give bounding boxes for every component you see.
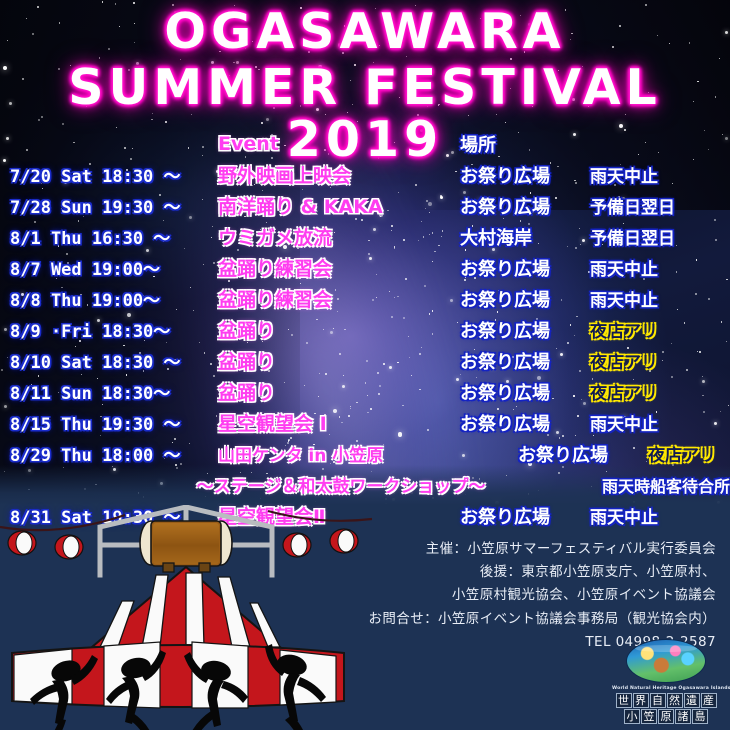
table-row: 8/7 Wed 19:00～盆踊り練習会お祭り広場雨天中止 (0, 252, 730, 283)
cell-venue: お祭り広場 (460, 162, 590, 188)
taiko-drum-icon (140, 521, 232, 572)
heritage-kanji-cell: 界 (633, 693, 649, 708)
cell-note: 夜店アリ (590, 317, 730, 342)
credit-organizer: 主催：小笠原サマーフェスティバル実行委員会 (369, 538, 717, 561)
heritage-logo-icon (626, 639, 706, 683)
yagura-illustration (0, 505, 372, 730)
cell-date: 7/28 Sun 19:30 ～ (0, 193, 218, 218)
cell-date: 8/11 Sun 18:30～ (0, 379, 218, 404)
cell-venue: お祭り広場 (460, 503, 590, 529)
heritage-kanji-cell: 産 (701, 693, 717, 708)
table-row: 8/11 Sun 18:30～盆踊りお祭り広場夜店アリ (0, 376, 730, 407)
header-event: Event (218, 133, 460, 155)
heritage-kanji-cell: 自 (650, 693, 666, 708)
cell-event: 盆踊り (218, 316, 460, 343)
credit-support-1: 後援：東京都小笠原支庁、小笠原村、 (369, 561, 717, 584)
schedule-table: Event 場所 7/20 Sat 18:30 ～野外映画上映会お祭り広場雨天中… (0, 128, 730, 531)
lantern-icon (283, 533, 311, 557)
cell-note: 雨天中止 (590, 286, 730, 311)
yagura-upper-curtain (92, 567, 280, 647)
lantern-icon (330, 529, 358, 553)
heritage-kanji-row: 小笠原諸島 (624, 709, 708, 724)
table-row: 8/10 Sat 18:30 ～盆踊りお祭り広場夜店アリ (0, 345, 730, 376)
cell-date: 8/8 Thu 19:00～ (0, 286, 218, 311)
cell-event: 山田ケンタ in 小笠原 (218, 441, 518, 466)
table-row: 8/9 ·Fri 18:30～盆踊りお祭り広場夜店アリ (0, 314, 730, 345)
cell-note: 雨天中止 (590, 255, 730, 280)
cell-date: 8/29 Thu 18:00 ～ (0, 441, 218, 466)
cell-event: 盆踊り練習会 (218, 285, 460, 312)
cell-date: 8/1 Thu 16:30 ～ (0, 224, 218, 249)
table-row: 8/1 Thu 16:30 ～ウミガメ放流大村海岸予備日翌日 (0, 221, 730, 252)
world-heritage-badge: World Natural Heritage Ogasawara Islands… (612, 639, 720, 724)
cell-note: 夜店アリ (590, 379, 730, 404)
lantern-icon (55, 535, 83, 559)
table-row: 8/29 Thu 18:00 ～山田ケンタ in 小笠原お祭り広場夜店アリ (0, 438, 730, 469)
heritage-english-label: World Natural Heritage Ogasawara Islands (612, 686, 720, 691)
heritage-kanji-grid: 世界自然遺産小笠原諸島 (612, 693, 720, 724)
table-row: 8/8 Thu 19:00～盆踊り練習会お祭り広場雨天中止 (0, 283, 730, 314)
table-row: ～ステージ＆和太鼓ワークショップ～雨天時船客待合所 (0, 469, 730, 500)
cell-event: ウミガメ放流 (218, 223, 460, 250)
table-row: 7/20 Sat 18:30 ～野外映画上映会お祭り広場雨天中止 (0, 159, 730, 190)
cell-event: 盆踊り (218, 347, 460, 374)
cell-venue: お祭り広場 (460, 410, 590, 436)
heritage-kanji-cell: 遺 (684, 693, 700, 708)
cell-event: 盆踊り練習会 (218, 254, 460, 281)
heritage-kanji-row: 世界自然遺産 (616, 693, 717, 708)
cell-venue: お祭り広場 (460, 317, 590, 343)
cell-venue: 大村海岸 (460, 224, 590, 250)
cell-venue: お祭り広場 (460, 379, 590, 405)
table-row: 7/28 Sun 19:30 ～南洋踊り & KAKAお祭り広場予備日翌日 (0, 190, 730, 221)
schedule-header-row: Event 場所 (0, 128, 730, 159)
cell-note: 雨天中止 (590, 503, 730, 528)
cell-event: 南洋踊り & KAKA (218, 192, 460, 219)
cell-date: 8/7 Wed 19:00～ (0, 255, 218, 280)
cell-venue: お祭り広場 (460, 348, 590, 374)
cell-venue: お祭り広場 (460, 193, 590, 219)
cell-event: 盆踊り (218, 378, 460, 405)
cell-note: 雨天時船客待合所 (602, 473, 730, 497)
cell-event: 野外映画上映会 (218, 161, 460, 188)
heritage-kanji-cell: 笠 (641, 709, 657, 724)
cell-venue: お祭り広場 (518, 441, 648, 467)
festival-poster: OGASAWARA SUMMER FESTIVAL 2019 Event 場所 … (0, 0, 730, 730)
table-row: 8/15 Thu 19:30 ～星空観望会 Ⅰお祭り広場雨天中止 (0, 407, 730, 438)
credit-support-2: 小笠原村観光協会、小笠原イベント協議会 (369, 584, 717, 607)
cell-note: 予備日翌日 (590, 224, 730, 249)
credit-contact: お問合せ：小笠原イベント協議会事務局（観光協会内） (369, 608, 717, 631)
cell-date: 8/9 ·Fri 18:30～ (0, 317, 218, 342)
header-venue: 場所 (460, 131, 590, 157)
cell-note: 雨天中止 (590, 162, 730, 187)
cell-note: 予備日翌日 (590, 193, 730, 218)
cell-date: 7/20 Sat 18:30 ～ (0, 162, 218, 187)
lantern-rope-right (268, 511, 372, 521)
heritage-kanji-cell: 島 (692, 709, 708, 724)
cell-event: ～ステージ＆和太鼓ワークショップ～ (197, 472, 486, 497)
lantern-icon (8, 531, 36, 555)
credits-block: 主催：小笠原サマーフェスティバル実行委員会 後援：東京都小笠原支庁、小笠原村、 … (369, 538, 717, 654)
cell-venue: お祭り広場 (460, 286, 590, 312)
cell-venue: お祭り広場 (460, 255, 590, 281)
cell-date: 8/15 Thu 19:30 ～ (0, 410, 218, 435)
heritage-kanji-cell: 小 (624, 709, 640, 724)
cell-event: 星空観望会 Ⅰ (218, 409, 460, 436)
cell-note: 雨天中止 (590, 410, 730, 435)
heritage-kanji-cell: 諸 (675, 709, 691, 724)
heritage-kanji-cell: 然 (667, 693, 683, 708)
cell-note: 夜店アリ (590, 348, 730, 373)
cell-date: 8/10 Sat 18:30 ～ (0, 348, 218, 373)
heritage-kanji-cell: 原 (658, 709, 674, 724)
cell-note: 夜店アリ (648, 441, 730, 466)
heritage-kanji-cell: 世 (616, 693, 632, 708)
